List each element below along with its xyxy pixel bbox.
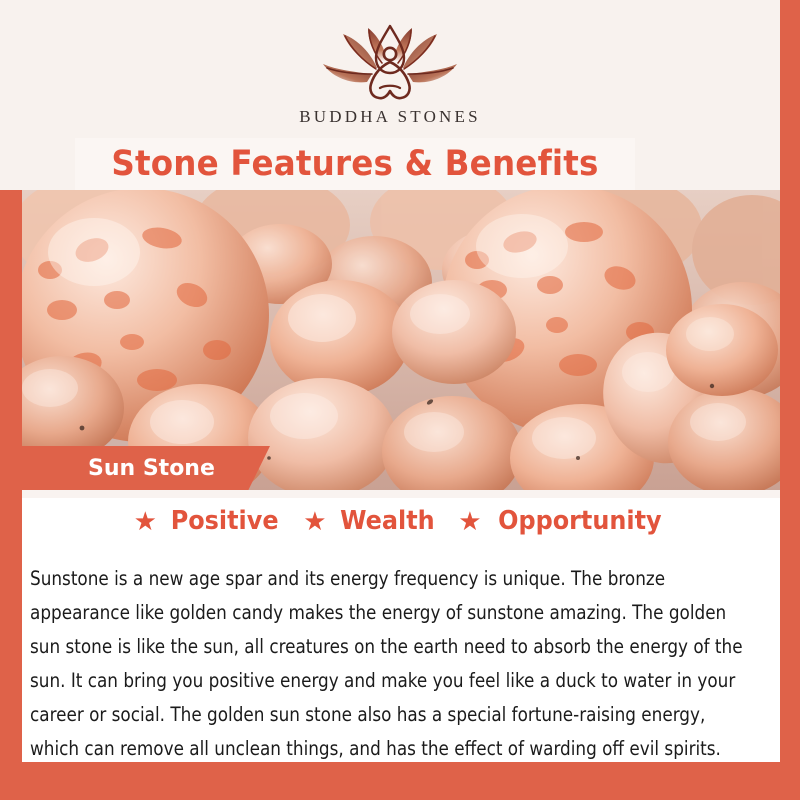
keyword-positive: ★ Positive bbox=[134, 506, 284, 536]
keyword-opportunity: ★ Opportunity bbox=[458, 506, 668, 536]
keyword-label: Wealth bbox=[340, 506, 435, 536]
keyword-list: ★ Positive ★ Wealth ★ Opportunity bbox=[22, 506, 780, 536]
stone-name-tag: Sun Stone bbox=[0, 446, 270, 490]
brand-logo: BUDDHA STONES bbox=[0, 22, 780, 127]
infographic-page: BUDDHA STONES Stone Features & Benefits bbox=[0, 0, 800, 800]
content-panel: ★ Positive ★ Wealth ★ Opportunity Sunsto… bbox=[22, 490, 780, 762]
page-title: Stone Features & Benefits bbox=[111, 144, 598, 184]
keyword-wealth: ★ Wealth bbox=[303, 506, 438, 536]
star-icon: ★ bbox=[134, 508, 157, 534]
brand-name: BUDDHA STONES bbox=[299, 107, 481, 127]
star-icon: ★ bbox=[458, 508, 481, 534]
stone-name-label: Sun Stone bbox=[88, 456, 215, 481]
keyword-label: Opportunity bbox=[498, 506, 662, 536]
hero-photo bbox=[22, 190, 780, 490]
frame-right-bar bbox=[780, 0, 800, 800]
frame-left-bar bbox=[0, 190, 22, 800]
panel-divider bbox=[22, 490, 780, 498]
title-banner: Stone Features & Benefits bbox=[75, 138, 635, 190]
description-paragraph: Sunstone is a new age spar and its energ… bbox=[30, 562, 748, 766]
lotus-meditation-icon bbox=[315, 22, 465, 104]
frame-bottom-bar bbox=[0, 762, 800, 800]
keyword-label: Positive bbox=[171, 506, 279, 536]
sunstone-photo-illustration bbox=[22, 190, 780, 490]
star-icon: ★ bbox=[303, 508, 326, 534]
